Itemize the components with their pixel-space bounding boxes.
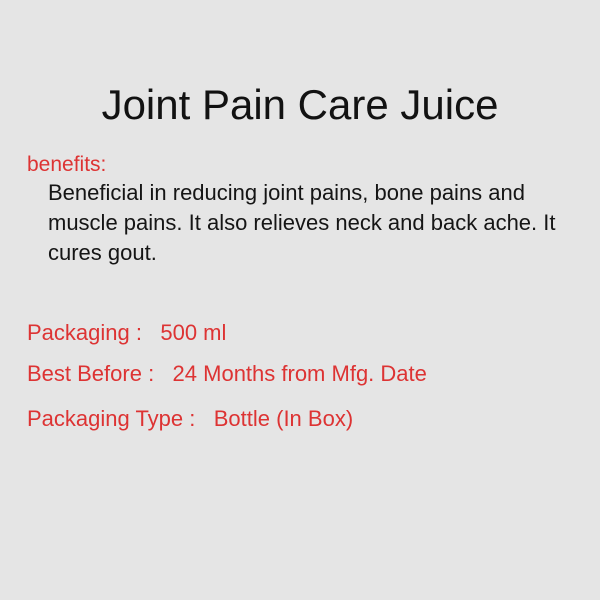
- benefits-label: benefits:: [27, 152, 573, 178]
- spec-row-packaging-type: Packaging Type : Bottle (In Box): [27, 406, 573, 432]
- spec-key-packaging-type: Packaging Type: [27, 406, 183, 431]
- spec-value-best-before: 24 Months from Mfg. Date: [173, 361, 427, 386]
- benefits-description: Beneficial in reducing joint pains, bone…: [48, 178, 568, 268]
- spec-key-best-before: Best Before: [27, 361, 142, 386]
- spec-row-best-before: Best Before : 24 Months from Mfg. Date: [27, 361, 573, 387]
- spec-key-packaging: Packaging: [27, 320, 130, 345]
- spec-value-packaging-type: Bottle (In Box): [214, 406, 353, 431]
- specifications-list: Packaging : 500 ml Best Before : 24 Mont…: [27, 320, 573, 432]
- spec-value-packaging: 500 ml: [160, 320, 226, 345]
- spec-row-packaging: Packaging : 500 ml: [27, 320, 573, 346]
- benefits-section: benefits: Beneficial in reducing joint p…: [27, 152, 573, 268]
- page-title: Joint Pain Care Juice: [0, 80, 600, 130]
- product-info-card: Joint Pain Care Juice benefits: Benefici…: [0, 0, 600, 600]
